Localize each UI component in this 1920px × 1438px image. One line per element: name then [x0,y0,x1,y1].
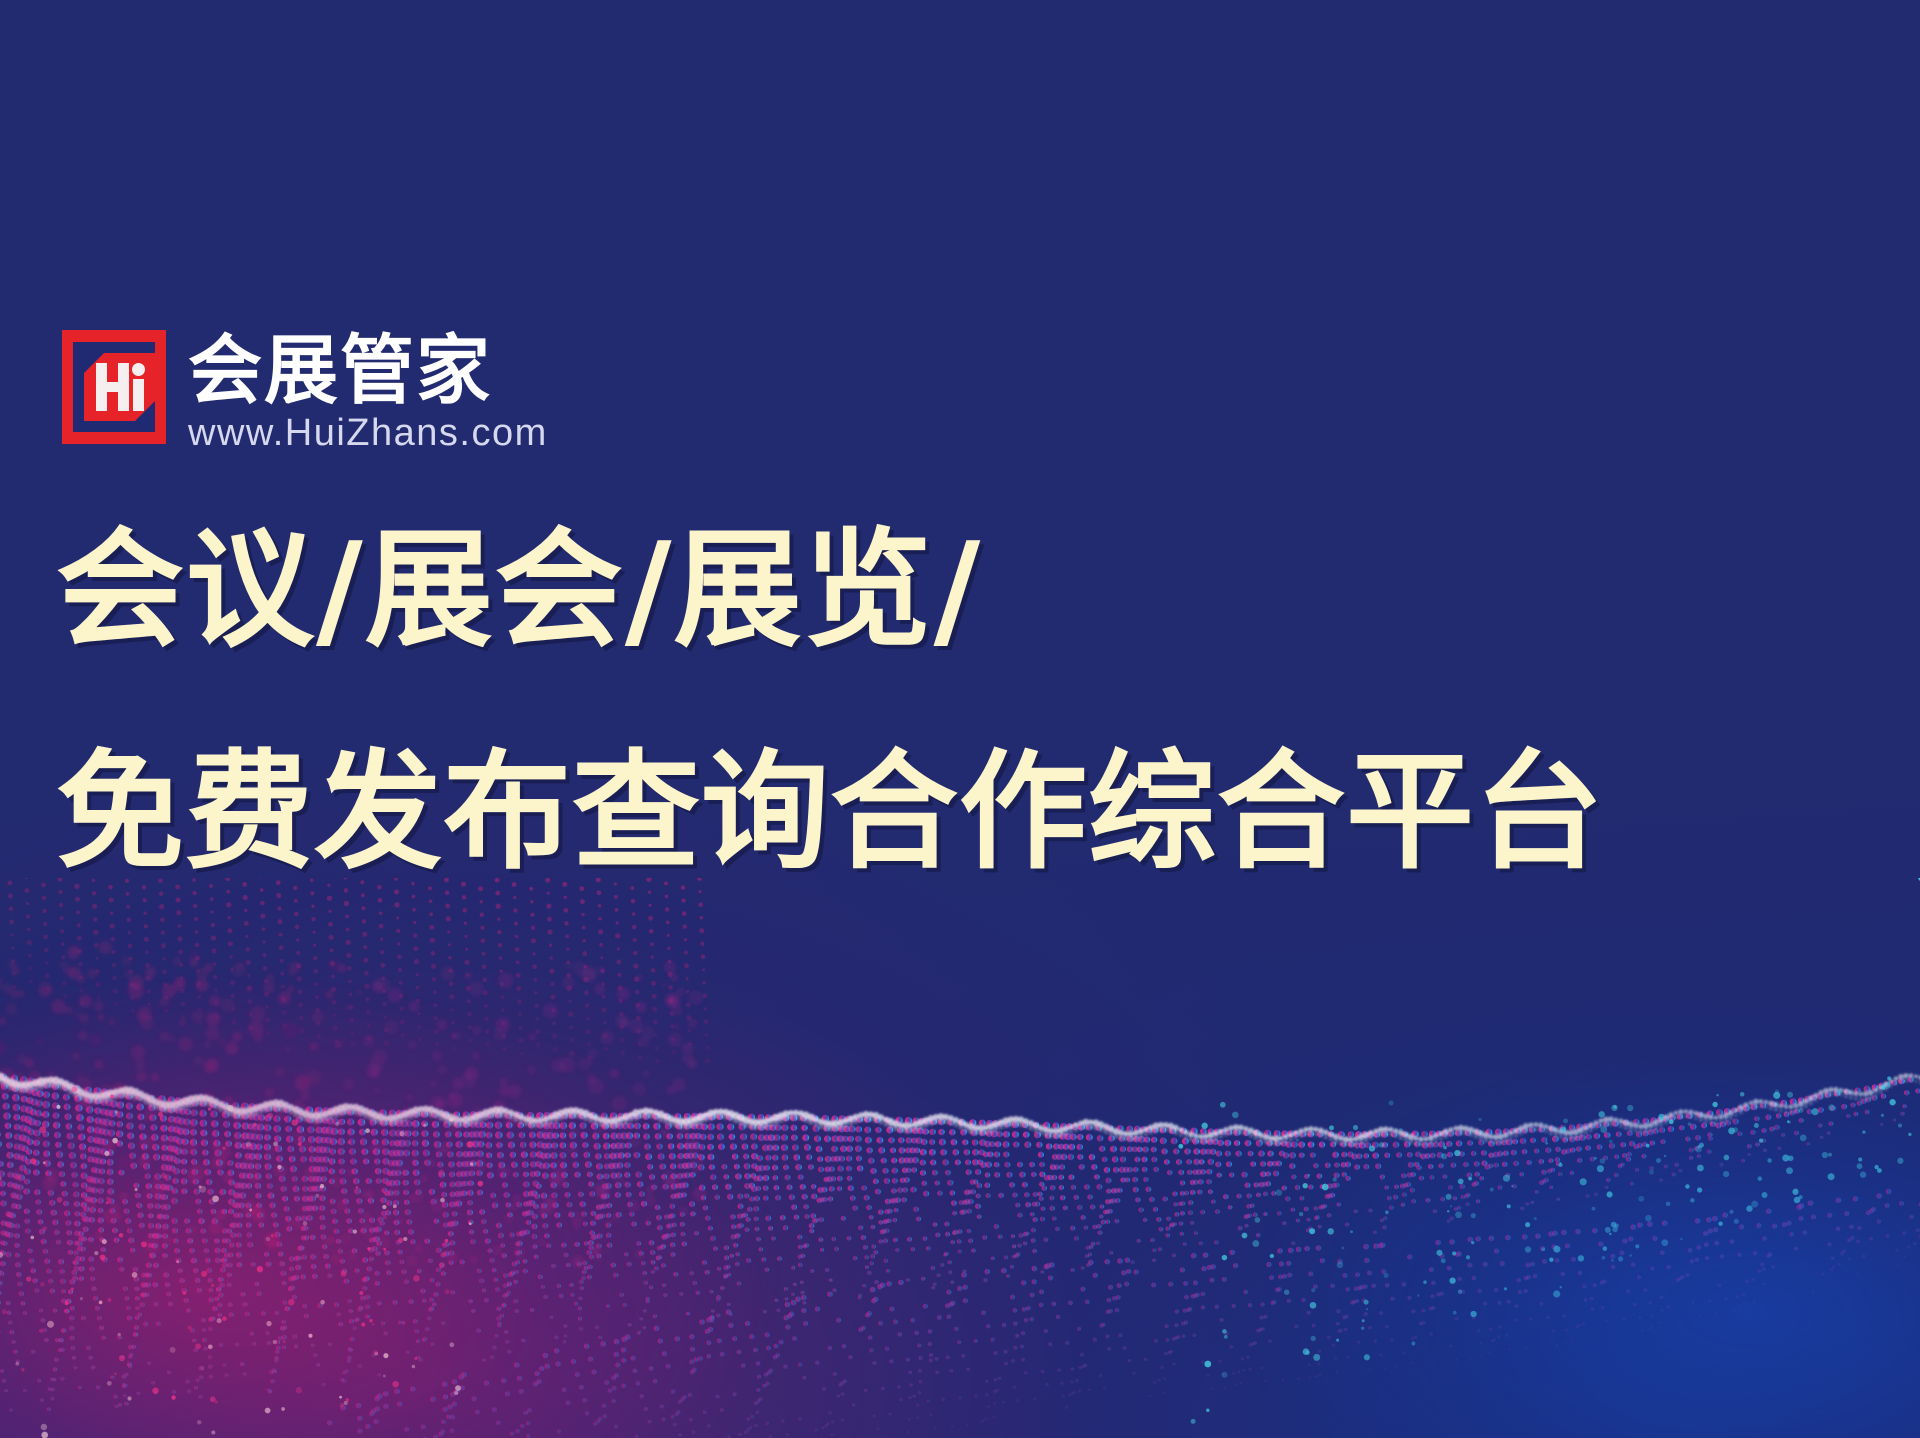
poster-canvas: 会展管家 www.HuiZhans.com 会议/展会/展览/ 免费发布查询合作… [0,0,1920,1438]
particle-wave-svg [0,878,1920,1438]
hi-monogram-square-icon [62,330,166,444]
particle-wave-graphic [0,878,1920,1438]
brand-url[interactable]: www.HuiZhans.com [188,412,548,454]
headline-line-1: 会议/展会/展览/ [56,516,1856,666]
brand-name: 会展管家 [188,332,548,410]
headline-block: 会议/展会/展览/ 免费发布查询合作综合平台 [56,516,1856,888]
brand-logo[interactable]: 会展管家 www.HuiZhans.com [62,330,548,454]
brand-logo-text: 会展管家 www.HuiZhans.com [188,330,548,454]
headline-line-2: 免费发布查询合作综合平台 [56,738,1856,888]
